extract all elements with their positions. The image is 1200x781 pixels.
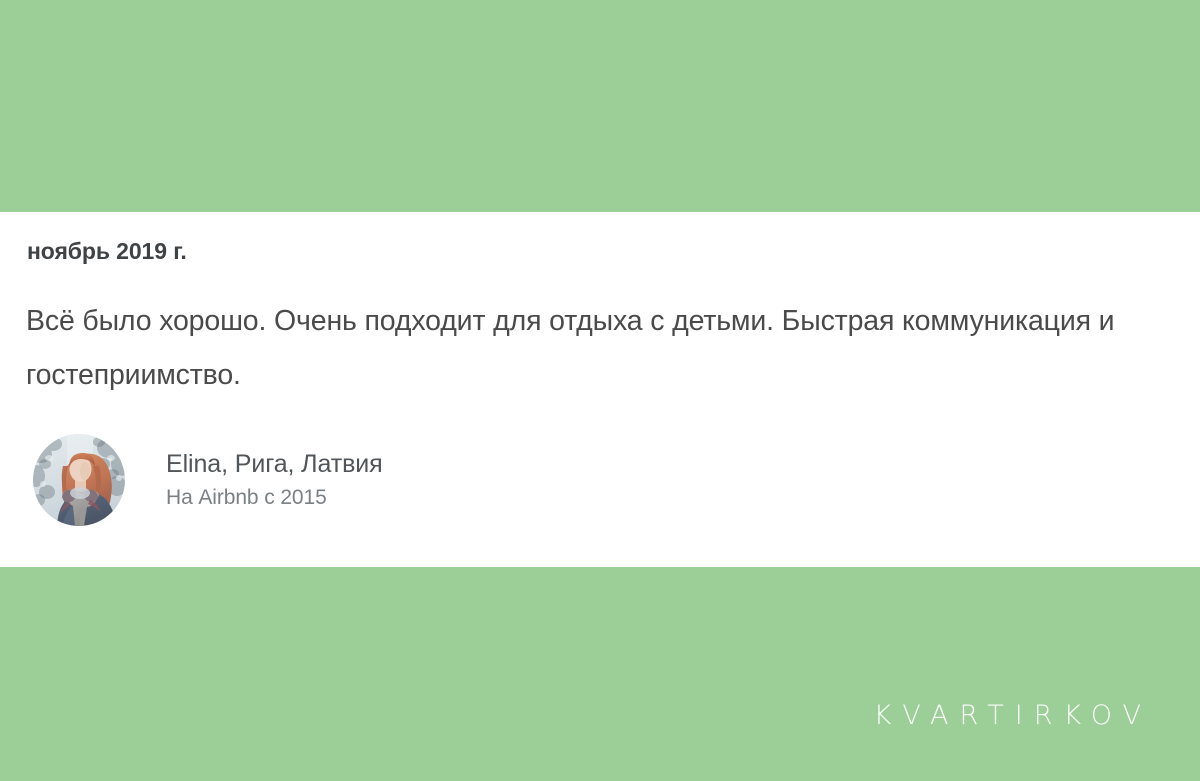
author-name: Elina, Рига, Латвия (166, 448, 383, 480)
avatar[interactable] (33, 434, 125, 526)
watermark-kvartirkov: KVARTIRKOV (863, 700, 1152, 731)
review-text: Всё было хорошо. Очень подходит для отды… (26, 294, 1162, 402)
top-green-band (0, 0, 1200, 212)
bottom-green-band: KVARTIRKOV (0, 567, 1200, 781)
author-text: Elina, Рига, Латвия На Airbnb с 2015 (166, 448, 383, 512)
avatar-photo-icon (33, 434, 125, 526)
author-member-since: На Airbnb с 2015 (166, 484, 383, 512)
review-date: ноябрь 2019 г. (27, 238, 187, 265)
review-image: ноябрь 2019 г. Всё было хорошо. Очень по… (0, 0, 1200, 781)
review-card: ноябрь 2019 г. Всё было хорошо. Очень по… (0, 212, 1200, 567)
author-block[interactable]: Elina, Рига, Латвия На Airbnb с 2015 (33, 434, 633, 538)
